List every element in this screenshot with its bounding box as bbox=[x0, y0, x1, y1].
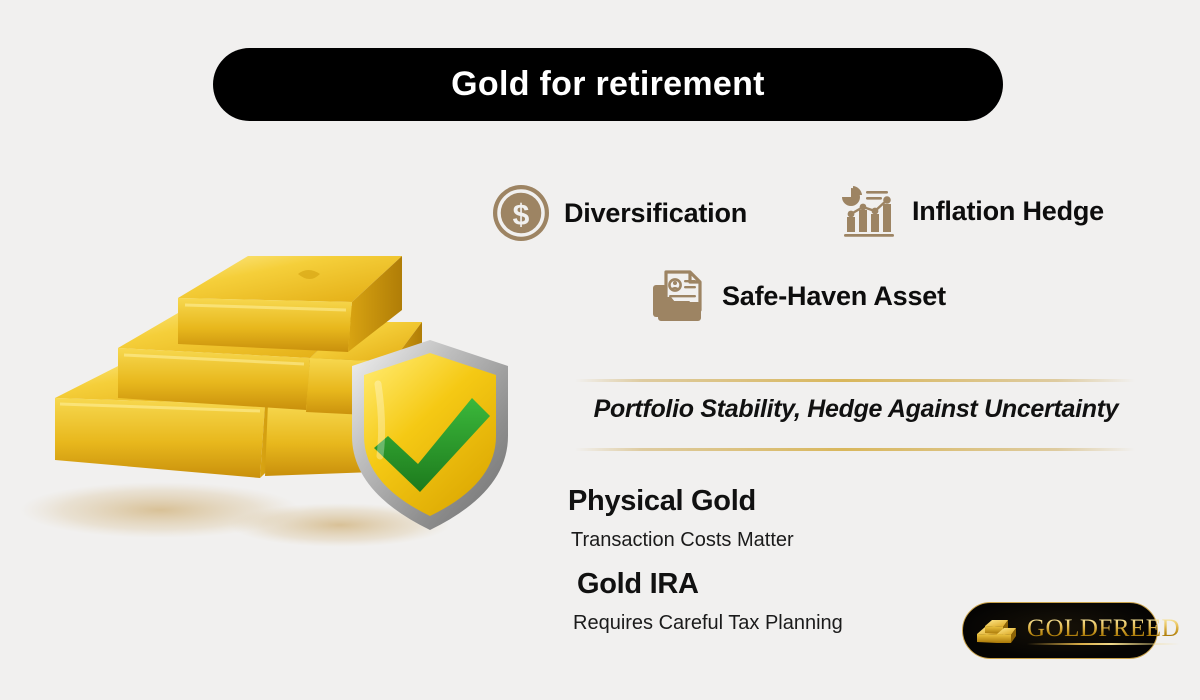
tagline-text: Portfolio Stability, Hedge Against Uncer… bbox=[575, 395, 1137, 424]
gold-bars-shield-svg bbox=[10, 240, 550, 560]
detail-subtext-physical-gold: Transaction Costs Matter bbox=[571, 529, 794, 552]
detail-heading-gold-ira: Gold IRA bbox=[577, 568, 699, 601]
infographic-canvas: Gold for retirement bbox=[0, 0, 1200, 700]
gold-bars-icon bbox=[973, 614, 1019, 648]
svg-text:$: $ bbox=[513, 199, 530, 232]
title-banner: Gold for retirement bbox=[213, 48, 1003, 121]
shield-checkmark-badge bbox=[352, 340, 508, 530]
feature-inflation-hedge: Inflation Hedge bbox=[840, 182, 1104, 240]
logo-underline bbox=[1027, 643, 1180, 645]
divider-top bbox=[575, 379, 1135, 382]
page-title: Gold for retirement bbox=[451, 65, 765, 104]
bar-chart-growth-icon bbox=[840, 182, 898, 240]
document-folder-icon bbox=[650, 267, 708, 325]
feature-label-inflation-hedge: Inflation Hedge bbox=[912, 196, 1104, 227]
feature-diversification: $ Diversification bbox=[492, 184, 747, 242]
logo-wordmark-wrap: GOLDFREED bbox=[1027, 616, 1180, 645]
brand-logo[interactable]: GOLDFREED bbox=[962, 602, 1158, 659]
logo-wordmark: GOLDFREED bbox=[1027, 616, 1180, 641]
detail-subtext-gold-ira: Requires Careful Tax Planning bbox=[573, 612, 843, 635]
feature-label-diversification: Diversification bbox=[564, 198, 747, 229]
divider-bottom bbox=[575, 448, 1135, 451]
feature-safe-haven-asset: Safe-Haven Asset bbox=[650, 267, 946, 325]
feature-label-safe-haven-asset: Safe-Haven Asset bbox=[722, 281, 946, 312]
hero-illustration bbox=[10, 240, 550, 560]
detail-heading-physical-gold: Physical Gold bbox=[568, 485, 756, 518]
dollar-coin-icon: $ bbox=[492, 184, 550, 242]
